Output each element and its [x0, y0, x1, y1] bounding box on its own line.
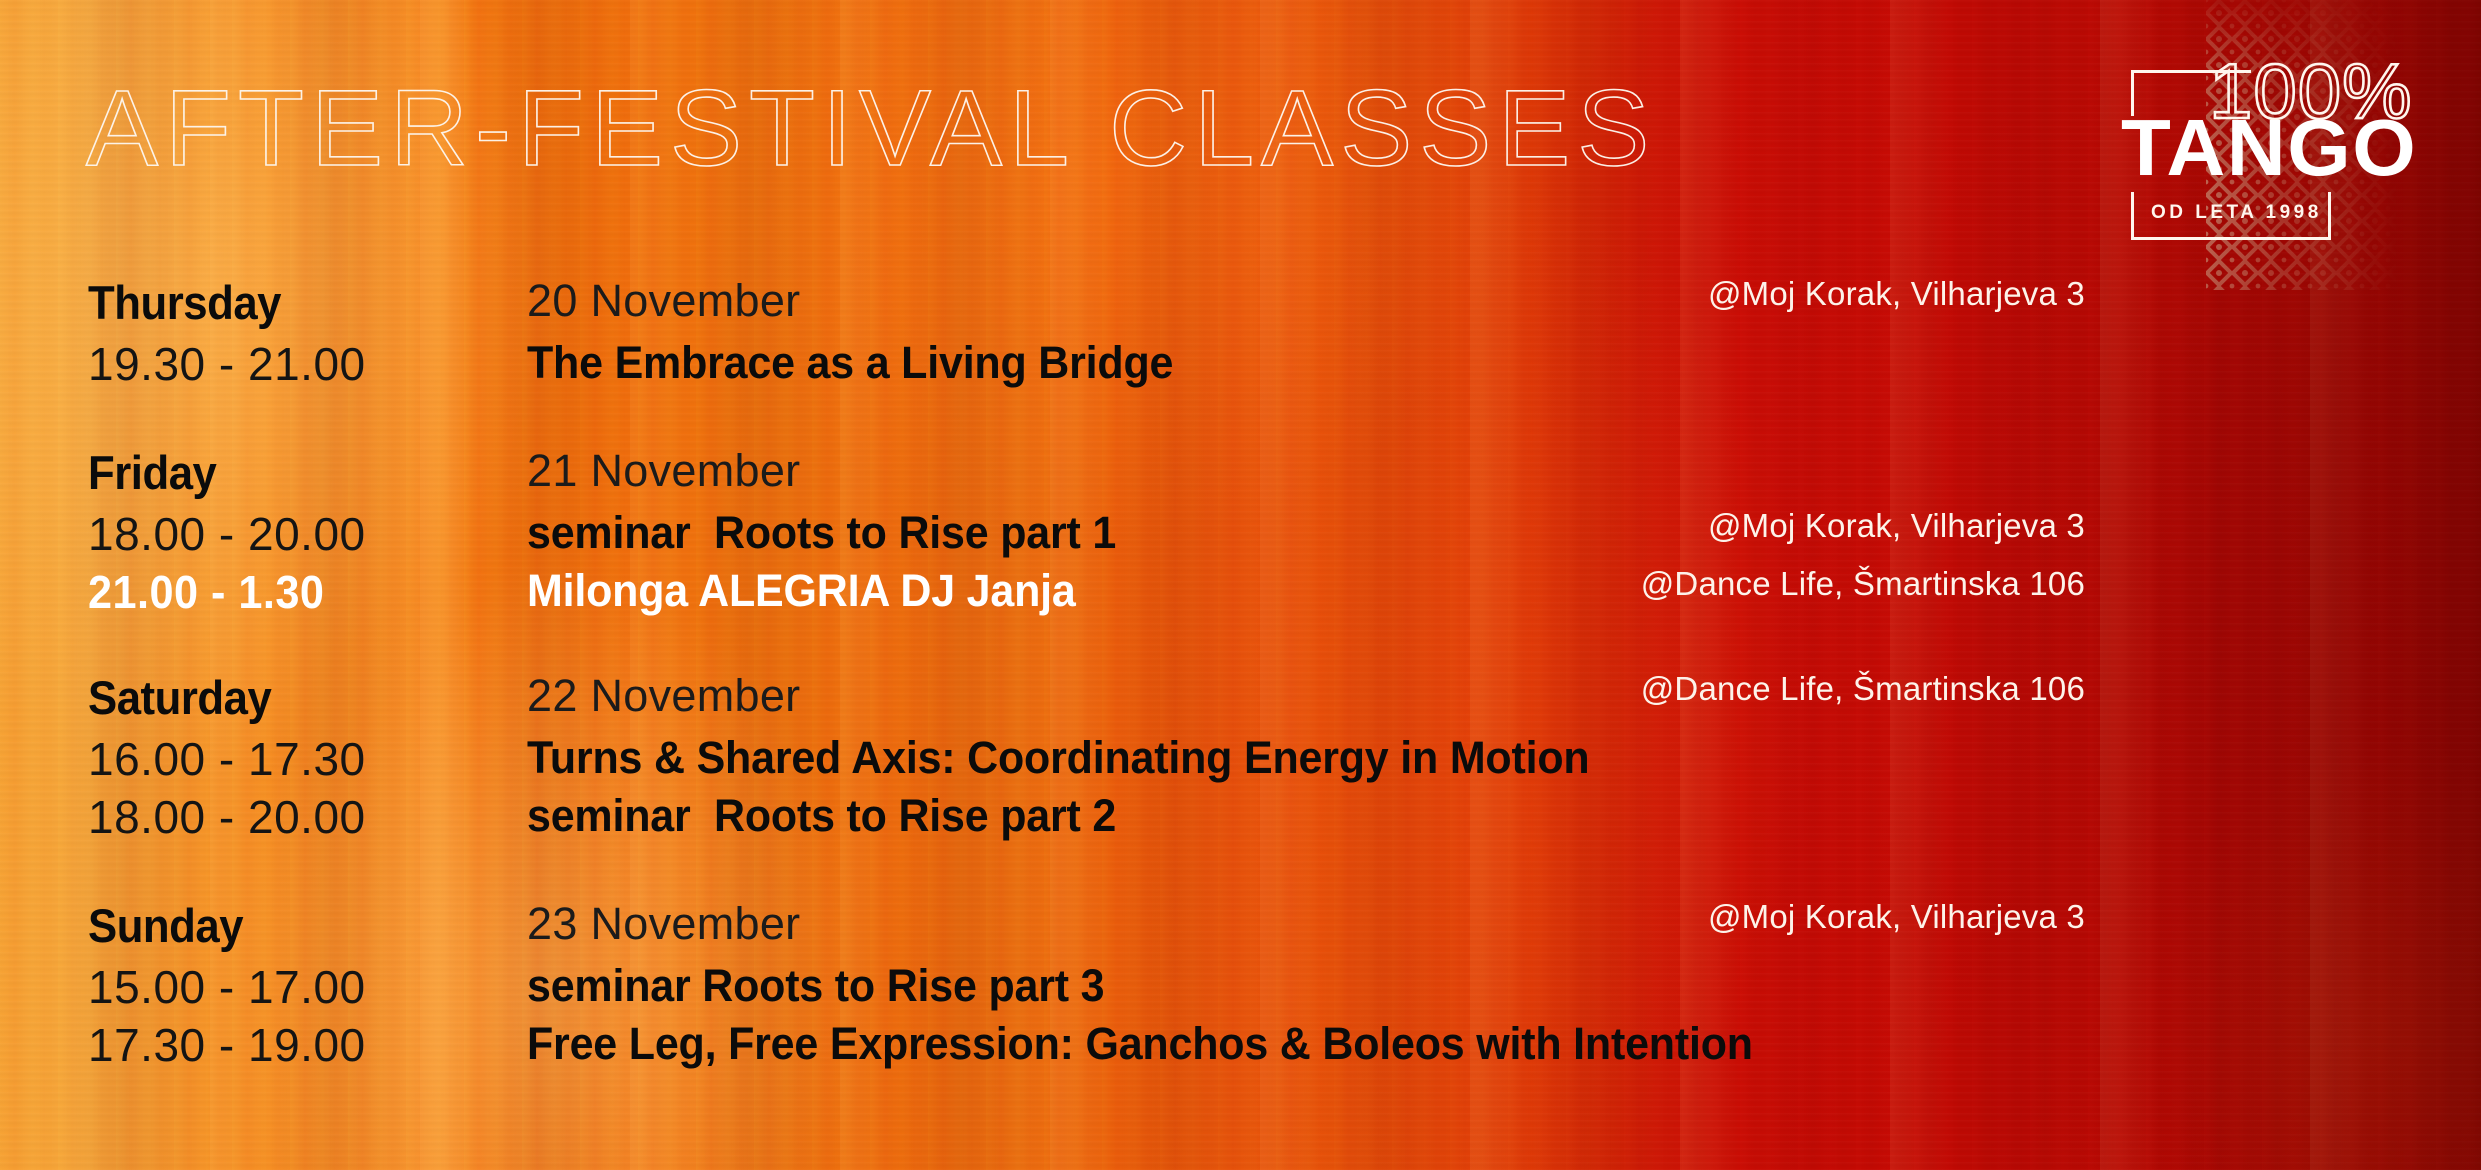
schedule-row: 18.00 - 20.00 seminar Roots to Rise part…: [0, 790, 2481, 848]
schedule-row: Friday 21 November: [0, 445, 2481, 507]
schedule-row: 19.30 - 21.00 The Embrace as a Living Br…: [0, 337, 2481, 395]
event-title: The Embrace as a Living Bridge: [527, 337, 1173, 389]
event-title: Milonga ALEGRIA DJ Janja: [527, 565, 1076, 617]
venue-cell: @Moj Korak, Vilharjeva 3: [1708, 507, 2085, 545]
day-name-cell: Sunday: [88, 898, 508, 953]
time-label: 21.00 - 1.30: [88, 565, 324, 619]
date-label: 22 November: [527, 670, 800, 721]
event-title: seminar Roots to Rise part 2: [527, 790, 1116, 842]
time-label: 19.30 - 21.00: [88, 337, 366, 391]
time-cell: 18.00 - 20.00: [88, 507, 508, 561]
venue-cell: @Moj Korak, Vilharjeva 3: [1708, 275, 2085, 313]
venue-label: @Moj Korak, Vilharjeva 3: [1708, 275, 2085, 312]
day-block-saturday: Saturday 22 November @Dance Life, Šmarti…: [0, 670, 2481, 898]
event-cell: Free Leg, Free Expression: Ganchos & Bol…: [527, 1018, 1811, 1070]
time-cell: 21.00 - 1.30: [88, 565, 508, 619]
schedule-row: Thursday 20 November @Moj Korak, Vilharj…: [0, 275, 2481, 337]
venue-label: @Dance Life, Šmartinska 106: [1641, 565, 2085, 602]
day-block-sunday: Sunday 23 November @Moj Korak, Vilharjev…: [0, 898, 2481, 1098]
venue-cell: @Dance Life, Šmartinska 106: [1641, 565, 2085, 603]
date-cell: 21 November: [527, 445, 800, 497]
venue-cell: @Moj Korak, Vilharjeva 3: [1708, 898, 2085, 936]
date-cell: 22 November: [527, 670, 800, 722]
day-name-cell: Thursday: [88, 275, 508, 330]
day-block-friday: Friday 21 November 18.00 - 20.00 seminar…: [0, 445, 2481, 670]
event-cell: Turns & Shared Axis: Coordinating Energy…: [527, 732, 1640, 784]
schedule-row: 16.00 - 17.30 Turns & Shared Axis: Coord…: [0, 732, 2481, 790]
schedule-row: 18.00 - 20.00 seminar Roots to Rise part…: [0, 507, 2481, 565]
venue-label: @Moj Korak, Vilharjeva 3: [1708, 898, 2085, 935]
event-title: seminar Roots to Rise part 3: [527, 960, 1104, 1012]
date-cell: 23 November: [527, 898, 800, 950]
poster-canvas: AFTER-FESTIVAL CLASSES: [0, 0, 2481, 1170]
schedule-row: Sunday 23 November @Moj Korak, Vilharjev…: [0, 898, 2481, 960]
day-name: Thursday: [88, 275, 281, 330]
date-label: 20 November: [527, 275, 800, 326]
event-title: Turns & Shared Axis: Coordinating Energy…: [527, 732, 1589, 784]
day-name-cell: Saturday: [88, 670, 508, 725]
logo-brand-name: TANGO: [2121, 108, 2417, 188]
event-cell: The Embrace as a Living Bridge: [527, 337, 1204, 389]
date-label: 23 November: [527, 898, 800, 949]
day-block-thursday: Thursday 20 November @Moj Korak, Vilharj…: [0, 275, 2481, 445]
time-label: 17.30 - 19.00: [88, 1018, 366, 1072]
day-name: Sunday: [88, 898, 243, 953]
logo-since-text: OD LETA 1998: [2151, 202, 2322, 224]
schedule-row: 21.00 - 1.30 Milonga ALEGRIA DJ Janja @D…: [0, 565, 2481, 623]
schedule-row: 17.30 - 19.00 Free Leg, Free Expression:…: [0, 1018, 2481, 1076]
page-title: AFTER-FESTIVAL CLASSES: [86, 74, 1656, 182]
venue-label: @Moj Korak, Vilharjeva 3: [1708, 507, 2085, 544]
brand-logo: 100% TANGO OD LETA 1998: [2091, 0, 2481, 290]
time-label: 15.00 - 17.00: [88, 960, 366, 1014]
time-cell: 16.00 - 17.30: [88, 732, 508, 786]
time-label: 16.00 - 17.30: [88, 732, 366, 786]
event-title: seminar Roots to Rise part 1: [527, 507, 1116, 559]
day-name: Friday: [88, 445, 216, 500]
venue-cell: @Dance Life, Šmartinska 106: [1641, 670, 2085, 708]
time-label: 18.00 - 20.00: [88, 790, 366, 844]
schedule-row: Saturday 22 November @Dance Life, Šmarti…: [0, 670, 2481, 732]
venue-label: @Dance Life, Šmartinska 106: [1641, 670, 2085, 707]
event-cell: seminar Roots to Rise part 1: [527, 507, 1144, 559]
date-cell: 20 November: [527, 275, 800, 327]
event-cell: Milonga ALEGRIA DJ Janja: [527, 565, 1101, 617]
time-label: 18.00 - 20.00: [88, 507, 366, 561]
time-cell: 17.30 - 19.00: [88, 1018, 508, 1072]
schedule-row: 15.00 - 17.00 seminar Roots to Rise part…: [0, 960, 2481, 1018]
event-title: Free Leg, Free Expression: Ganchos & Bol…: [527, 1018, 1753, 1070]
date-label: 21 November: [527, 445, 800, 496]
time-cell: 18.00 - 20.00: [88, 790, 508, 844]
day-name-cell: Friday: [88, 445, 508, 500]
event-cell: seminar Roots to Rise part 2: [527, 790, 1144, 842]
schedule-list: Thursday 20 November @Moj Korak, Vilharj…: [0, 275, 2481, 1098]
event-cell: seminar Roots to Rise part 3: [527, 960, 1132, 1012]
time-cell: 15.00 - 17.00: [88, 960, 508, 1014]
day-name: Saturday: [88, 670, 271, 725]
time-cell: 19.30 - 21.00: [88, 337, 508, 391]
